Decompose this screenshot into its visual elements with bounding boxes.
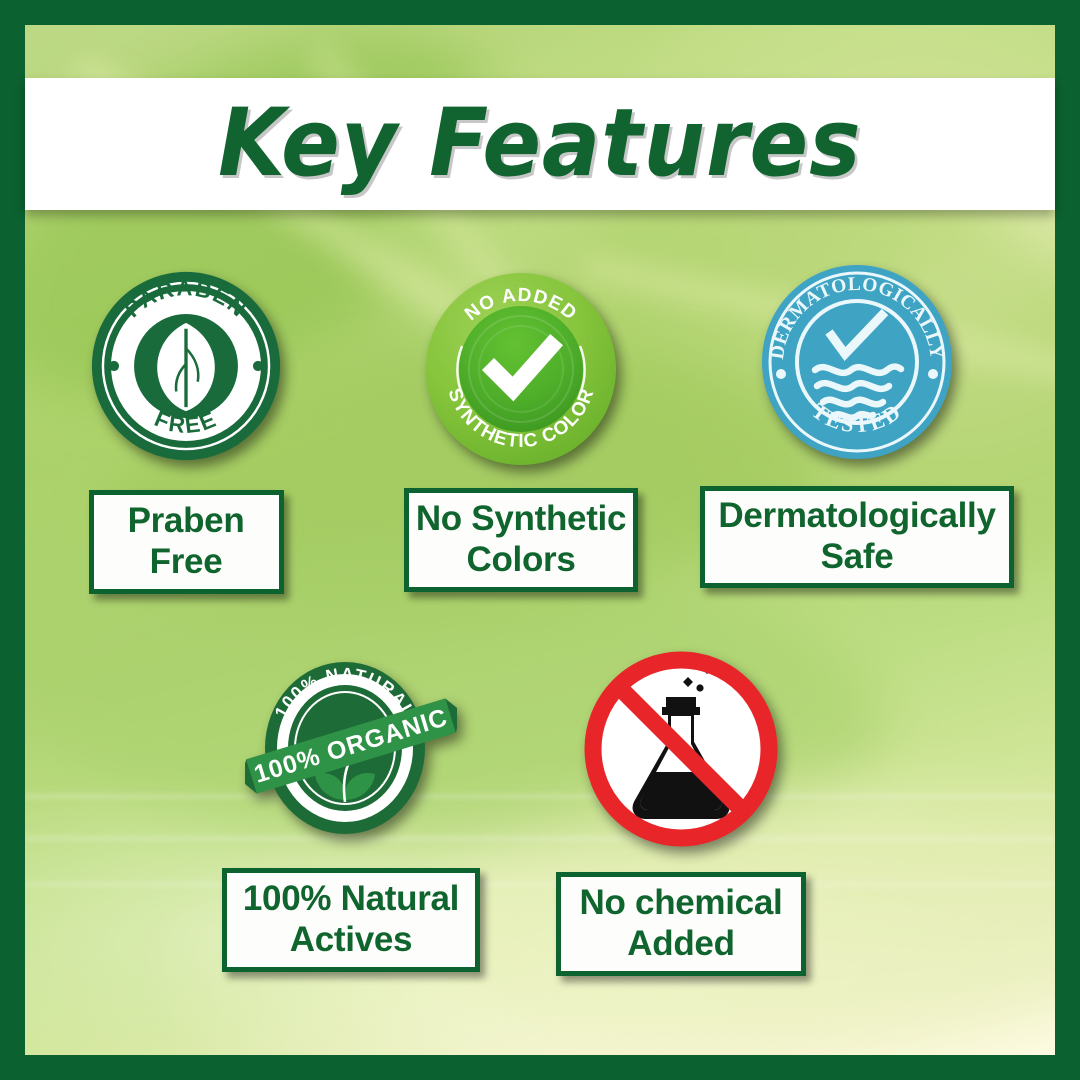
label-line-1: Praben — [128, 501, 245, 540]
label-line-1: Dermatologically — [718, 496, 995, 535]
water-reflection-line — [25, 837, 1055, 840]
feature-dermatologically-safe[interactable]: DERMATOLOGICALLY TESTED Dermatologically… — [700, 262, 1014, 588]
label-line-2: Actives — [290, 920, 412, 959]
feature-natural-actives[interactable]: 100% NATURAL 100% ORGANIC 100% Natural A… — [222, 650, 480, 972]
paraben-free-badge[interactable]: PARABEN FREE — [88, 268, 284, 464]
key-features-poster: Key Features — [0, 0, 1080, 1080]
label-line-2: Colors — [466, 540, 575, 579]
title-banner: Key Features — [25, 78, 1055, 210]
label-line-1: No chemical — [580, 883, 783, 922]
feature-label-natural-actives: 100% Natural Actives — [222, 868, 480, 972]
label-line-1: 100% Natural — [243, 879, 459, 918]
feature-label-paraben-free: Praben Free — [89, 490, 284, 594]
label-line-2: Added — [627, 924, 734, 963]
feature-no-chemical[interactable]: No chemical Added — [556, 650, 806, 976]
label-line-1: No Synthetic — [416, 499, 626, 538]
feature-label-no-synthetic-colors: No Synthetic Colors — [404, 488, 638, 592]
page-title: Key Features — [218, 97, 862, 191]
dermatologically-tested-badge[interactable]: DERMATOLOGICALLY TESTED — [759, 262, 955, 462]
label-line-2: Safe — [821, 537, 894, 576]
water-reflection-line — [25, 795, 1055, 798]
label-line-2: Free — [150, 542, 223, 581]
feature-label-dermatologically-safe: Dermatologically Safe — [700, 486, 1014, 588]
feature-label-no-chemical: No chemical Added — [556, 872, 806, 976]
feature-no-synthetic-colors[interactable]: NO ADDED SYNTHETIC COLOR No Synthetic Co… — [404, 268, 638, 592]
100-percent-organic-badge[interactable]: 100% NATURAL 100% ORGANIC — [245, 650, 457, 846]
water-reflection-line — [25, 883, 1055, 886]
no-added-synthetic-color-badge[interactable]: NO ADDED SYNTHETIC COLOR — [420, 268, 622, 468]
no-chemical-badge[interactable] — [583, 650, 779, 848]
feature-paraben-free[interactable]: PARABEN FREE Praben Free — [88, 268, 284, 594]
